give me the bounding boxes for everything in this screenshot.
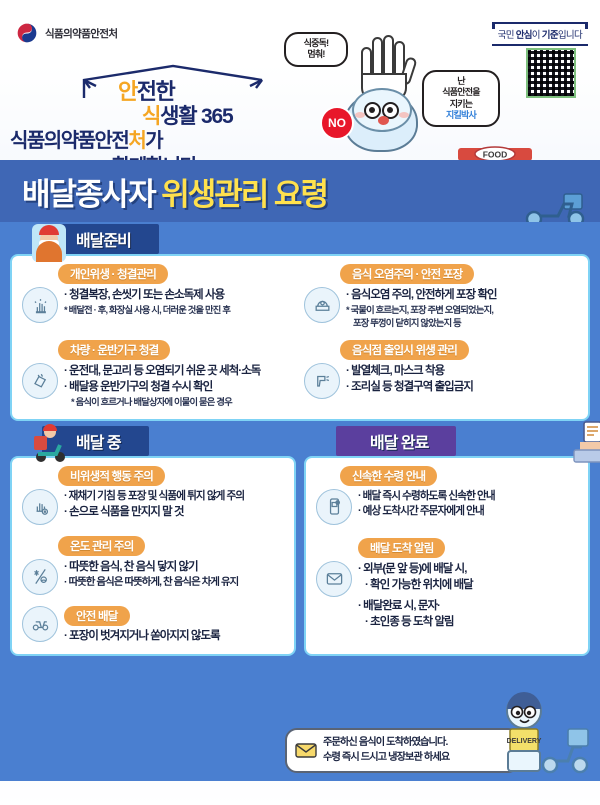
done-item-1-line-1: 확인 가능한 위치에 배달 (358, 577, 578, 594)
mascot-bubble-left: 식중독! 멈춰! (284, 32, 348, 67)
prep-item-1-note-0: * 국물이 흐르는지, 포장 주변 오염되었는지, (346, 304, 578, 317)
prep-item-1: 음식 오염주의 · 안전 포장 음식오염 주의, 안전하게 포장 확인 * 국물… (304, 264, 578, 330)
food-container-icon (304, 287, 340, 323)
wiping-cloth-icon (22, 363, 58, 399)
prep-item-2: 차량 · 운반기구 청결 운전대, 문고리 등 오염되기 쉬운 곳 세척·소독 … (22, 340, 296, 409)
svg-text:DELIVERY: DELIVERY (507, 738, 542, 745)
slogan-post: 입니다 (558, 30, 582, 41)
during-item-1-line-0: 따뜻한 음식, 찬 음식 닿지 않기 (64, 559, 284, 576)
done-item-1-line-0: 외부(문 앞 등)에 배달 시, (358, 561, 578, 578)
rider-scooter-icon (30, 422, 68, 464)
prep-item-3-pill: 음식점 출입시 위생 관리 (340, 340, 469, 360)
prep-item-0-line-0: 청결복장, 손씻기 또는 손소독제 사용 (64, 287, 296, 304)
mascot-bubble-right: 난 식품안전을 지키는 지킬박사 (422, 70, 500, 127)
during-item-2-line-0: 포장이 벗겨지거나 쏟아지지 않도록 (64, 628, 284, 645)
washing-hands-icon (22, 287, 58, 323)
during-item-2: 안전 배달 포장이 벗겨지거나 쏟아지지 않도록 (22, 606, 284, 645)
svg-text:FOOD: FOOD (483, 150, 508, 160)
prep-item-0-lines: 청결복장, 손씻기 또는 손소독제 사용 * 배달전 · 후, 화장실 사용 시… (64, 287, 296, 317)
page-title-yellow: 위생관리 요령 (161, 177, 327, 212)
poster-root: 식품의약품안전처 국민 안심이 기준입니다 안전한 식생활 365 식품의약품안… (0, 0, 600, 805)
done-item-1-pill: 배달 도착 알림 (358, 538, 445, 558)
during-item-0: 비위생적 행동 주의 재채기 기침 등 포장 및 식품에 튀지 않게 주의 (22, 466, 284, 525)
mascot-bubble-right-l4: 지킬박사 (430, 110, 492, 121)
during-item-0-row: 재채기 기침 등 포장 및 식품에 튀지 않게 주의 손으로 식품을 만지지 말… (22, 489, 284, 525)
prep-item-3-row: 발열체크, 마스크 착용 조리실 등 청결구역 출입금지 (304, 363, 578, 399)
brand-line-3-hl: 처 (128, 130, 145, 152)
done-item-0-line-0: 배달 즉시 수령하도록 신속한 안내 (358, 489, 578, 504)
during-item-0-pill: 비위생적 행동 주의 (58, 466, 165, 486)
prep-item-1-pill: 음식 오염주의 · 안전 포장 (340, 264, 474, 284)
prep-item-2-row: 운전대, 문고리 등 오염되기 쉬운 곳 세척·소독 배달용 운반기구의 청결 … (22, 363, 296, 409)
done-item-0-line-1: 예상 도착시간 주문자에게 안내 (358, 504, 578, 519)
taegeuk-icon (16, 22, 38, 44)
no-hand-touch-icon (22, 489, 58, 525)
during-item-1-row: 따뜻한 음식, 찬 음식 닿지 않기 따뜻한 음식은 따뜻하게, 찬 음식은 차… (22, 559, 284, 595)
national-slogan: 국민 안심이 기준입니다 (492, 22, 588, 46)
prep-item-0-note-0: * 배달전 · 후, 화장실 사용 시, 더러운 것을 만진 후 (64, 304, 296, 317)
done-item-1-lines: 외부(문 앞 등)에 배달 시, 확인 가능한 위치에 배달 배달완료 시, 문… (358, 561, 578, 631)
brand-line-3: 식품의약품안전처가 (10, 124, 162, 153)
mascot-mouth (378, 116, 389, 125)
slogan-mid: 이 (532, 30, 542, 41)
prep-item-1-note-1: 포장 뚜껑이 닫히지 않았는지 등 (346, 317, 578, 330)
done-item-0: 신속한 수령 안내 배달 즉시 수령하도록 신속한 안내 예상 도착시간 주문자… (316, 466, 578, 525)
smartphone-alert-icon (316, 489, 352, 525)
poster-header: 식품의약품안전처 국민 안심이 기준입니다 안전한 식생활 365 식품의약품안… (0, 0, 600, 160)
prep-item-0: 개인위생 · 청결관리 청결복장, 손씻기 또는 손소독제 사용 * 배달전 · (22, 264, 296, 330)
government-logo: 식품의약품안전처 (16, 22, 117, 44)
mascot-bubble-right-l1: 난 (430, 76, 492, 87)
prep-item-2-pill: 차량 · 운반기구 청결 (58, 340, 170, 360)
during-item-1: 온도 관리 주의 따뜻한 음식, 찬 음식 닿지 않기 따뜻한 음식은 따뜻 (22, 536, 284, 595)
card-done: 신속한 수령 안내 배달 즉시 수령하도록 신속한 안내 예상 도착시간 주문자… (304, 456, 590, 657)
brand-line-3-pre: 식품의약품안전 (10, 130, 128, 152)
done-item-1-line-1-text: 확인 가능한 위치에 배달 (370, 579, 473, 591)
prep-item-2-lines: 운전대, 문고리 등 오염되기 쉬운 곳 세척·소독 배달용 운반기구의 청결 … (64, 363, 296, 409)
done-item-1-line-3: 초인종 등 도착 알림 (358, 614, 578, 631)
prep-item-2-line-1: 배달용 운반기구의 청결 수시 확인 (64, 379, 296, 396)
card-prep: 개인위생 · 청결관리 청결복장, 손씻기 또는 손소독제 사용 * 배달전 · (10, 254, 590, 421)
envelope-icon (316, 561, 352, 597)
section-done: 배달 완료 신속한 수령 안내 (304, 430, 590, 657)
section-caption-done-label: 배달 완료 (336, 426, 456, 456)
during-item-1-lines: 따뜻한 음식, 찬 음식 닿지 않기 따뜻한 음식은 따뜻하게, 찬 음식은 차… (64, 559, 284, 591)
brand-line-2-rest: 생활 365 (160, 105, 232, 128)
slogan-pre: 국민 (498, 30, 516, 41)
during-item-0-lines: 재채기 기침 등 포장 및 식품에 튀지 않게 주의 손으로 식품을 만지지 말… (64, 489, 284, 521)
hot-cold-icon (22, 559, 58, 595)
safe-scooter-icon (22, 606, 58, 642)
mascot-character: 식중독! 멈춰! 난 식품안전을 지키는 지킬박사 (300, 30, 440, 160)
slogan-emph-1: 안심 (516, 30, 532, 41)
customer-notice-text: 주문하신 음식이 도착하였습니다. 수령 즉시 드시고 냉장보관 하세요 (323, 736, 449, 765)
slogan-emph-2: 기준 (542, 30, 558, 41)
prep-item-3-line-1: 조리실 등 청결구역 출입금지 (346, 379, 578, 396)
card-during: 비위생적 행동 주의 재채기 기침 등 포장 및 식품에 튀지 않게 주의 (10, 456, 296, 657)
prep-item-3-lines: 발열체크, 마스크 착용 조리실 등 청결구역 출입금지 (346, 363, 578, 396)
done-item-0-pill: 신속한 수령 안내 (340, 466, 437, 486)
mascot-face (352, 88, 412, 132)
receipt-handover-icon (570, 420, 600, 464)
done-item-0-row: 배달 즉시 수령하도록 신속한 안내 예상 도착시간 주문자에게 안내 (316, 489, 578, 525)
section-caption-prep: 배달준비 (42, 228, 590, 254)
government-agency-name: 식품의약품안전처 (45, 26, 117, 41)
section-during: 배달 중 비위생적 행동 주의 (10, 430, 296, 657)
prep-item-3-line-0: 발열체크, 마스크 착용 (346, 363, 578, 380)
during-item-2-pill: 안전 배달 (64, 606, 130, 626)
done-item-0-lines: 배달 즉시 수령하도록 신속한 안내 예상 도착시간 주문자에게 안내 (358, 489, 578, 520)
prep-item-0-pill: 개인위생 · 청결관리 (58, 264, 168, 284)
prep-item-0-row: 청결복장, 손씻기 또는 손소독제 사용 * 배달전 · 후, 화장실 사용 시… (22, 287, 296, 323)
prep-item-1-lines: 음식오염 주의, 안전하게 포장 확인 * 국물이 흐르는지, 포장 주변 오염… (346, 287, 578, 330)
prep-row-2: 차량 · 운반기구 청결 운전대, 문고리 등 오염되기 쉬운 곳 세척·소독 … (22, 340, 578, 409)
prep-item-3: 음식점 출입시 위생 관리 발열체크, 마스크 착용 조리실 등 청결구역 출입… (304, 340, 578, 409)
brand-slogan-block: 안전한 식생활 365 식품의약품안전처가 함께합니다 (56, 58, 296, 150)
mascot-cheek-right (399, 112, 409, 118)
page-title-white: 배달종사자 (22, 177, 155, 212)
qr-code[interactable] (526, 48, 576, 98)
during-item-1-line-1: 따뜻한 음식은 따뜻하게, 찬 음식은 차게 유지 (64, 575, 284, 590)
prep-item-1-row: 음식오염 주의, 안전하게 포장 확인 * 국물이 흐르는지, 포장 주변 오염… (304, 287, 578, 330)
brand-line-1-hl: 안 (118, 79, 137, 104)
done-item-1-row: 외부(문 앞 등)에 배달 시, 확인 가능한 위치에 배달 배달완료 시, 문… (316, 561, 578, 631)
delivery-rider-mascot: DELIVERY (484, 689, 594, 777)
mascot-bubble-right-l3: 지키는 (430, 99, 492, 110)
customer-notice-line-1: 주문하신 음식이 도착하였습니다. (323, 736, 449, 750)
no-badge: NO (320, 106, 354, 140)
main-title-band: 배달종사자 위생관리 요령 (0, 160, 600, 222)
delivery-person-avatar-icon (30, 220, 68, 262)
during-item-0-line-1: 손으로 식품을 만지지 말 것 (64, 504, 284, 521)
mascot-bubble-right-l2: 식품안전을 (430, 87, 492, 98)
envelope-send-icon (295, 743, 317, 759)
thermometer-gun-icon (304, 363, 340, 399)
customer-notice-line-2: 수령 즉시 드시고 냉장보관 하세요 (323, 751, 449, 765)
lower-sections: 배달 중 비위생적 행동 주의 (10, 430, 590, 657)
during-item-1-pill: 온도 관리 주의 (58, 536, 145, 556)
poster-content: 배달준비 개인위생 · 청결관리 청 (0, 222, 600, 781)
prep-item-2-line-0: 운전대, 문고리 등 오염되기 쉬운 곳 세척·소독 (64, 363, 296, 380)
done-item-1-line-2: 배달완료 시, 문자· (358, 598, 578, 615)
during-item-0-line-0: 재채기 기침 등 포장 및 식품에 튀지 않게 주의 (64, 489, 284, 504)
during-item-2-lines: 안전 배달 포장이 벗겨지거나 쏟아지지 않도록 (64, 606, 284, 645)
section-caption-done: 배달 완료 (336, 430, 590, 456)
page-title: 배달종사자 위생관리 요령 (22, 169, 327, 214)
prep-row-1: 개인위생 · 청결관리 청결복장, 손씻기 또는 손소독제 사용 * 배달전 · (22, 264, 578, 330)
done-item-1: 배달 도착 알림 외부(문 앞 등)에 배달 시, 확인 가능한 위치에 배달 … (316, 538, 578, 631)
done-item-1-line-3-text: 초인종 등 도착 알림 (370, 616, 453, 628)
prep-item-1-line-0: 음식오염 주의, 안전하게 포장 확인 (346, 287, 578, 304)
section-caption-during: 배달 중 (42, 430, 296, 456)
brand-line-3-post: 가 (145, 130, 162, 152)
during-item-2-row: 안전 배달 포장이 벗겨지거나 쏟아지지 않도록 (22, 606, 284, 645)
prep-item-2-note-0: * 음식이 흐르거나 배달상자에 이물이 묻은 경우 (64, 396, 296, 409)
mascot-eye-left (364, 102, 381, 119)
